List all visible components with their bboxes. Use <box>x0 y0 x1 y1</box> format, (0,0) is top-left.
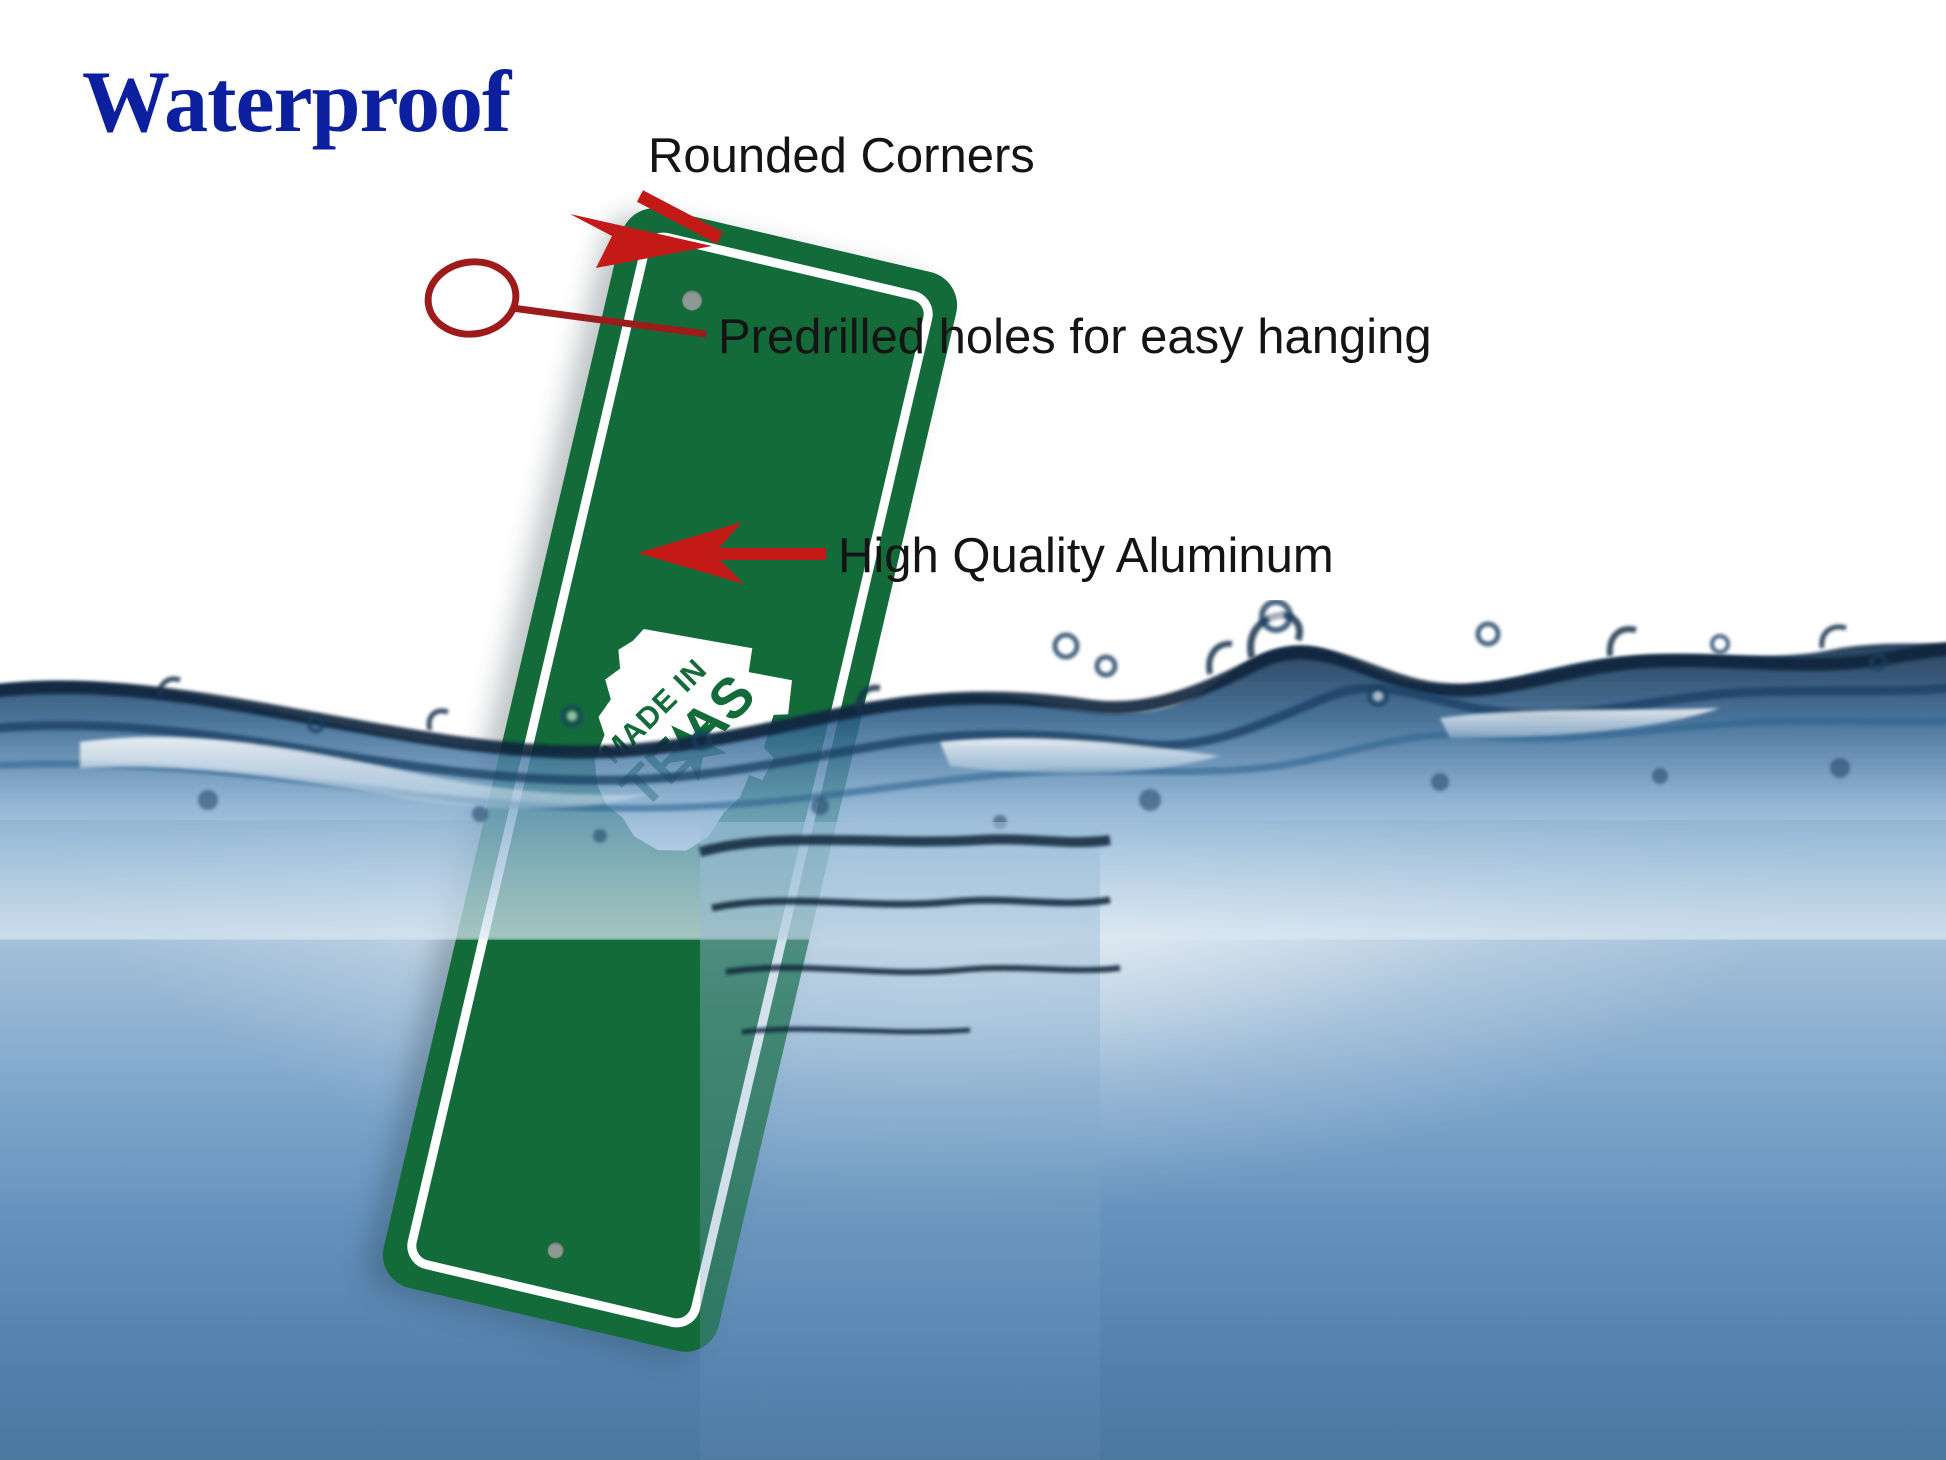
infographic-canvas: MADE IN TE AS <box>0 0 1946 1460</box>
sign-container: MADE IN TE AS <box>390 218 990 1348</box>
callout-high-quality-aluminum: High Quality Aluminum <box>838 528 1334 584</box>
callout-rounded-corners: Rounded Corners <box>648 128 1035 184</box>
page-title: Waterproof <box>82 52 510 153</box>
callout-predrilled-holes: Predrilled holes for easy hanging <box>718 309 1432 365</box>
aluminum-sign: MADE IN TE AS <box>376 201 964 1358</box>
